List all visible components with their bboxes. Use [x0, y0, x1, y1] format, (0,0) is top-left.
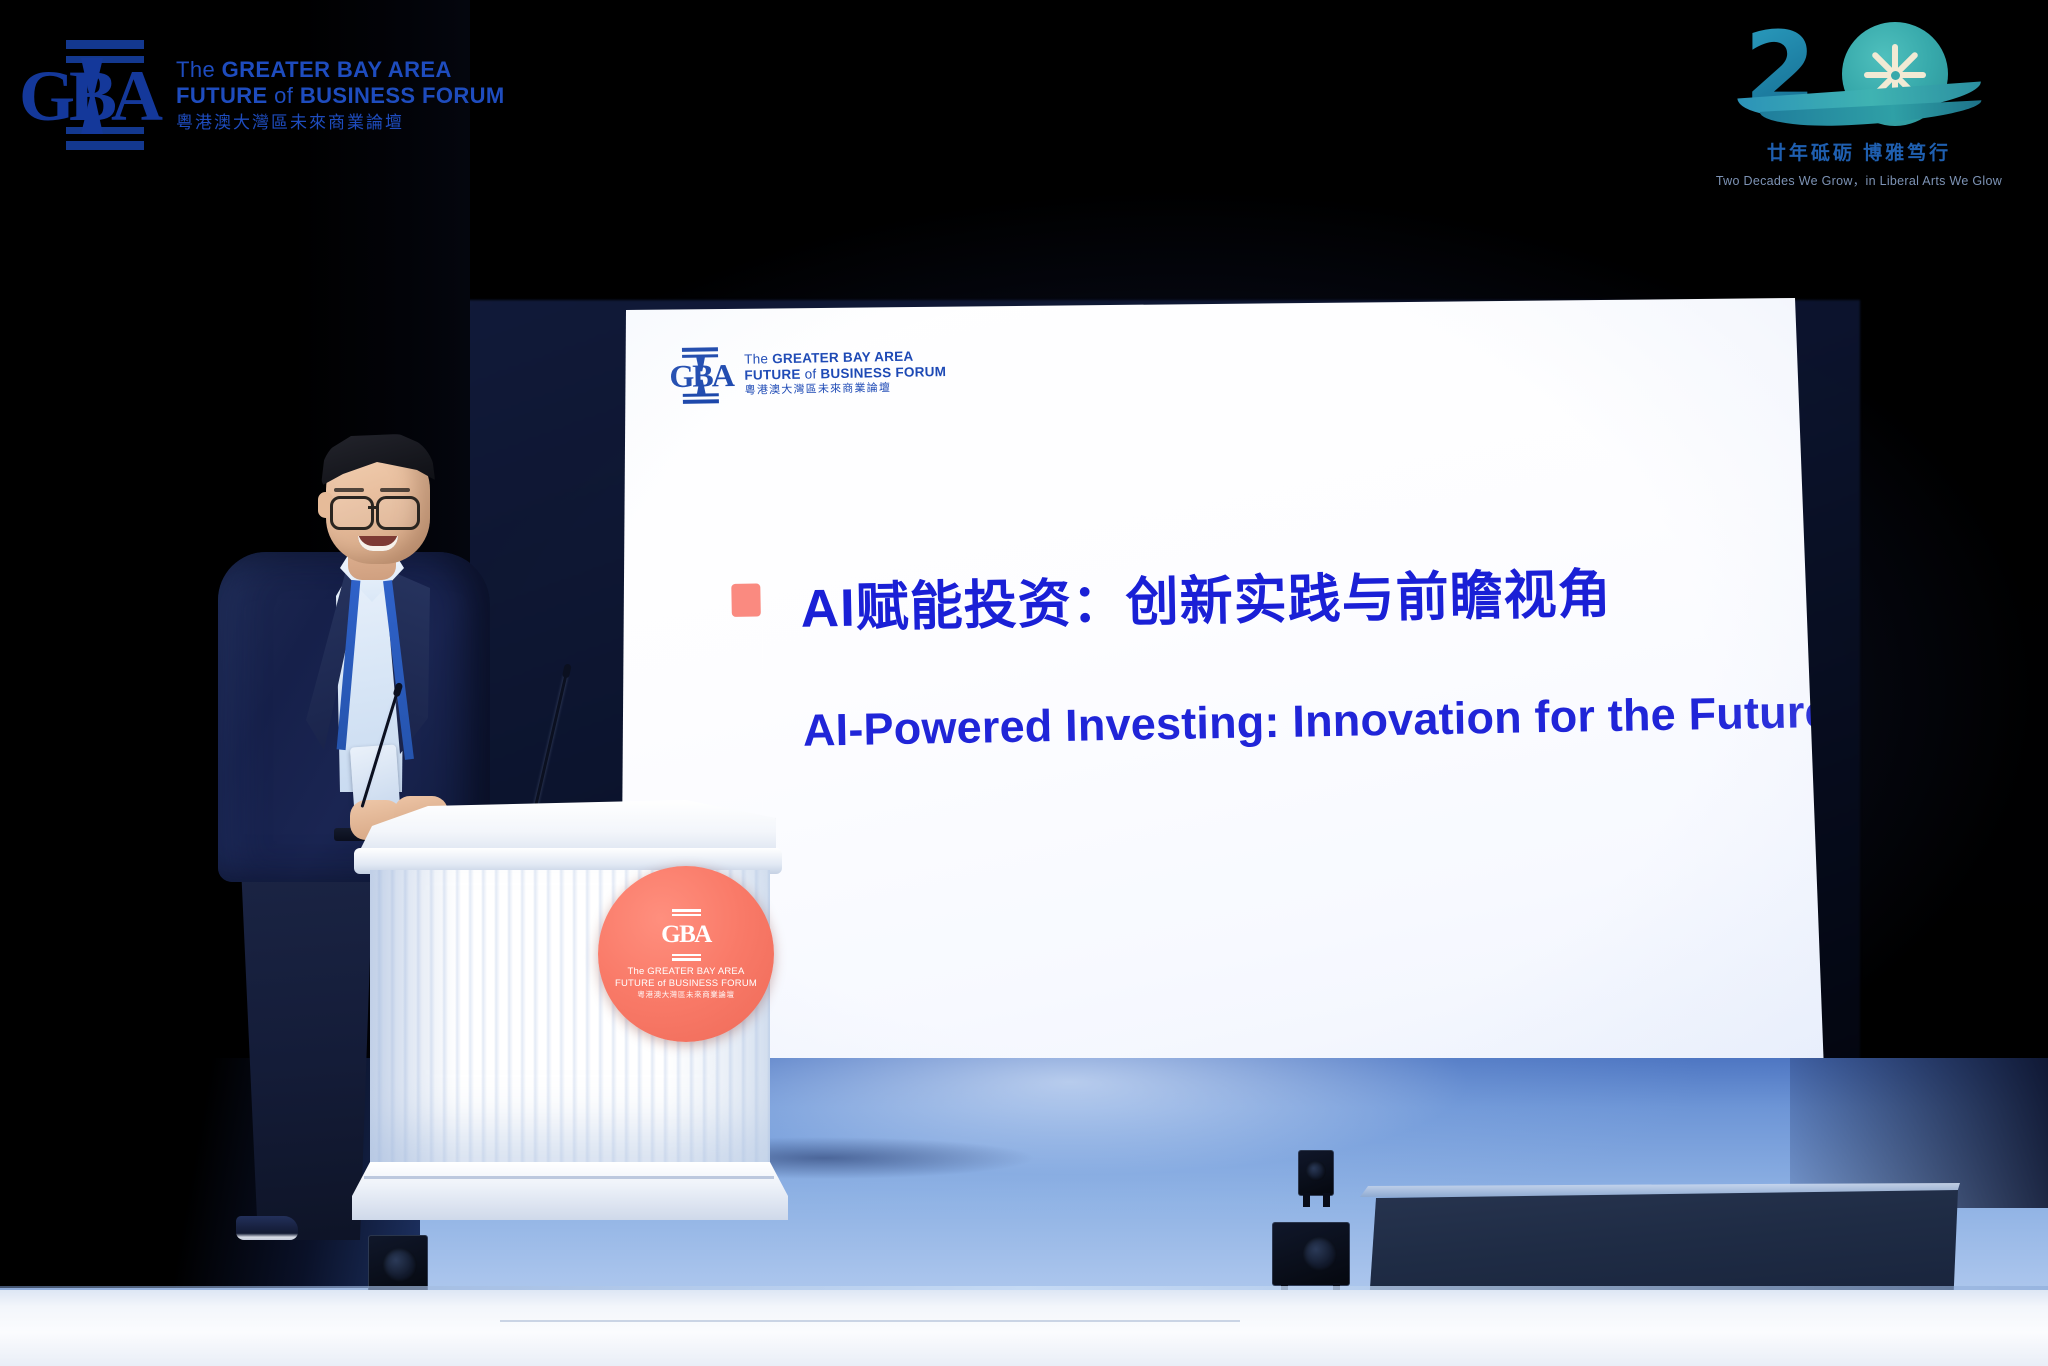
gba-monogram-icon: GBA [18, 20, 158, 170]
glasses-bridge-icon [368, 506, 378, 509]
emblem-monogram-letters: GBA [660, 915, 712, 955]
floor-monitor-speaker-center [1272, 1222, 1350, 1286]
glasses-lens-right-icon [376, 496, 420, 530]
lectern-base [352, 1162, 788, 1220]
lectern-base-moulding [364, 1176, 774, 1179]
stage-lip-seam [500, 1320, 1240, 1322]
floor-monitor-speaker-right [1298, 1150, 1334, 1196]
emblem-text: The GREATER BAY AREA FUTURE of BUSINESS … [615, 966, 757, 1000]
speaker-cone-icon [1306, 1161, 1326, 1181]
anniversary-tagline-cn: 廿年砥砺 博雅笃行 [1694, 138, 2024, 165]
forum-logo-line2: FUTURE of BUSINESS FORUM [176, 83, 505, 109]
stage-front-lip [0, 1290, 2048, 1366]
presenter-eyebrow-left [334, 488, 364, 492]
forum-logo-header-left: GBA The GREATER BAY AREA FUTURE of BUSIN… [18, 20, 505, 170]
screen-vignette [620, 298, 1835, 1130]
conference-stage-photo: GBA The GREATER BAY AREA FUTURE of BUSIN… [0, 0, 2048, 1366]
glasses-lens-left-icon [330, 496, 374, 530]
presenter-eyebrow-right [380, 488, 410, 492]
forum-logo-text: The GREATER BAY AREA FUTURE of BUSINESS … [176, 57, 505, 133]
lectern-emblem: GBA The GREATER BAY AREA FUTURE of BUSIN… [598, 866, 774, 1042]
emblem-line2: FUTURE of BUSINESS FORUM [615, 978, 757, 990]
emblem-line1: The GREATER BAY AREA [615, 966, 757, 978]
anniversary-20-icon: 2 [1734, 14, 1984, 134]
forum-logo-line3-cn: 粵港澳大灣區未來商業論壇 [176, 113, 505, 133]
anniversary-tagline-en: Two Decades We Grow，in Liberal Arts We G… [1694, 170, 2024, 189]
forum-logo-line1: The GREATER BAY AREA [176, 57, 505, 83]
projection-screen: GBA The GREATER BAY AREA FUTURE of BUSIN… [620, 298, 1835, 1130]
speaker-cone-icon [1303, 1237, 1337, 1271]
presenter-shoe [236, 1216, 298, 1240]
anniversary-logo-header-right: 2 廿年砥砺 博雅笃行 Two Decades We Grow，in Liber… [1694, 14, 2024, 189]
speaker-cone-icon [383, 1248, 417, 1282]
lectern: GBA The GREATER BAY AREA FUTURE of BUSIN… [330, 790, 790, 1240]
emblem-gba-monogram-icon: GBA [660, 908, 712, 962]
emblem-line3-cn: 粵港澳大灣區未來商業論壇 [615, 990, 757, 1000]
